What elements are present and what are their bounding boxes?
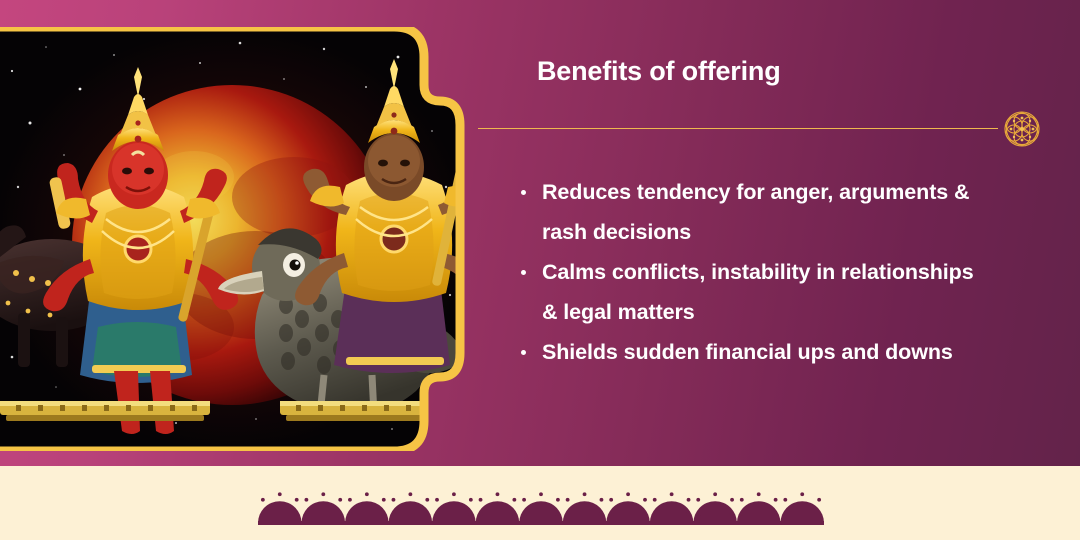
pedestal-right [280,401,470,421]
list-item: Reduces tendency for anger, arguments & … [514,172,984,252]
mandala-rosette-icon [997,104,1047,154]
bullet-dot-icon [521,350,526,355]
page-title: Benefits of offering [537,56,781,87]
deity-illustration [0,27,470,451]
gold-divider-rule [478,128,998,129]
bullet-dot-icon [521,270,526,275]
benefits-list: Reduces tendency for anger, arguments & … [514,172,984,372]
image-frame [0,27,470,451]
pedestal-left [0,401,210,421]
list-item: Calms conflicts, instability in relation… [514,252,984,332]
list-item-label: Calms conflicts, instability in relation… [542,260,974,324]
scallop-border-icon [258,489,824,529]
bullet-dot-icon [521,190,526,195]
list-item-label: Reduces tendency for anger, arguments & … [542,180,969,244]
slide-canvas: Benefits of offering [0,0,1080,540]
list-item: Shields sudden financial ups and downs [514,332,984,372]
list-item-label: Shields sudden financial ups and downs [542,340,953,364]
